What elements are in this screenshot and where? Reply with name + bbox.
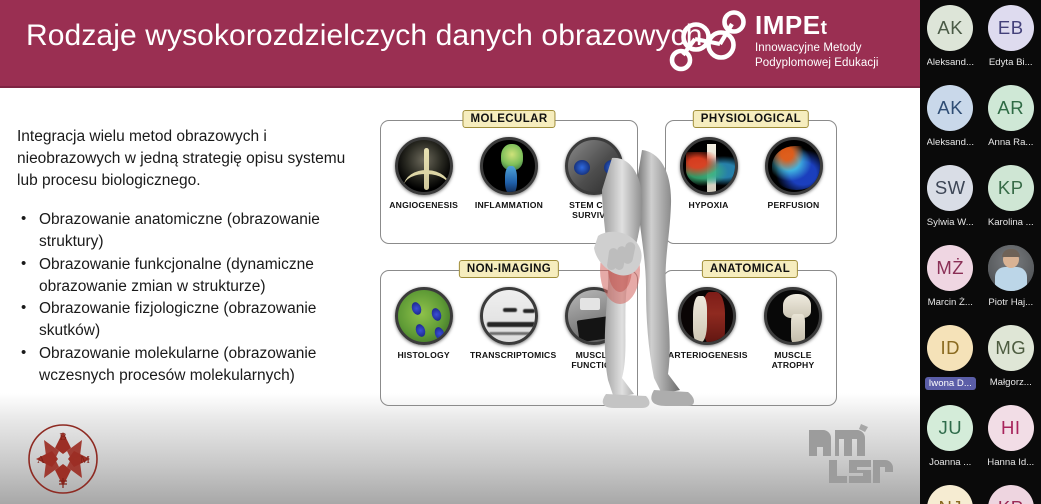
abm-maltese-cross-logo: B A M (15, 420, 111, 498)
participant-avatar[interactable]: ID (927, 325, 973, 371)
participant-name: Edyta Bi... (989, 57, 1033, 68)
participant-tile[interactable]: KPKatarzyn... (981, 480, 1041, 504)
participant-avatar[interactable]: JU (927, 405, 973, 451)
participant-name: Anna Ra... (988, 137, 1033, 148)
participant-row: SWSylwia W...KPKarolina ... (920, 160, 1041, 240)
panel-title-non-imaging: NON-IMAGING (459, 260, 559, 278)
modality-label: MUSCLE ATROPHY (754, 350, 832, 370)
impet-name-main: IMPE (755, 10, 821, 40)
amsns-logo (803, 420, 895, 492)
panel-title-anatomical: ANATOMICAL (702, 260, 798, 278)
impet-wordmark: IMPEt Innowacyjne Metody Podyplomowej Ed… (755, 12, 879, 71)
muscle-atrophy-thumbnail (764, 287, 822, 345)
modality-item: MUSCLE ATROPHY (754, 287, 832, 370)
imaging-modalities-figure: MOLECULAR ANGIOGENESIS INFLAMMATION STEM… (380, 112, 830, 412)
legs-with-hand-graphic (576, 150, 708, 412)
slide-header-band: Rodzaje wysokorozdzielczych danych obraz… (0, 0, 920, 88)
modality-item: PERFUSION (755, 137, 833, 210)
modality-label: PERFUSION (755, 200, 833, 210)
svg-text:B: B (59, 431, 66, 443)
participant-tile[interactable]: AKAleksand... (920, 0, 981, 80)
participant-tile[interactable]: ARAnna Ra... (981, 80, 1041, 160)
slide-body-text: Integracja wielu metod obrazowych i nieo… (17, 126, 357, 388)
inflammation-thumbnail (480, 137, 538, 195)
participant-tile[interactable]: HIHanna Id... (981, 400, 1041, 480)
participant-tile[interactable]: NJNatalia J... (920, 480, 981, 504)
participant-tile[interactable]: SWSylwia W... (920, 160, 981, 240)
participant-name: Marcin Ż... (928, 297, 973, 308)
participant-name: Karolina ... (988, 217, 1034, 228)
participant-name: Aleksand... (927, 137, 974, 148)
participant-row: IDIwona D...MGMałgorz... (920, 320, 1041, 400)
participant-tile[interactable]: JUJoanna ... (920, 400, 981, 480)
participant-tile[interactable]: MŻMarcin Ż... (920, 240, 981, 320)
meeting-screen: Rodzaje wysokorozdzielczych danych obraz… (0, 0, 1041, 504)
list-item: Obrazowanie molekularne (obrazowanie wcz… (17, 343, 357, 387)
participant-avatar[interactable]: KP (988, 165, 1034, 211)
participant-name: Iwona D... (925, 377, 976, 390)
participant-avatar[interactable]: MŻ (927, 245, 973, 291)
angiogenesis-thumbnail (395, 137, 453, 195)
participant-avatar[interactable]: MG (988, 325, 1034, 371)
participant-avatar[interactable]: AR (988, 85, 1034, 131)
participant-avatar[interactable]: SW (927, 165, 973, 211)
participant-row: AKAleksand...EBEdyta Bi... (920, 0, 1041, 80)
participant-row: NJNatalia J...KPKatarzyn... (920, 480, 1041, 504)
participant-avatar[interactable]: KP (988, 485, 1034, 504)
participant-avatar[interactable]: EB (988, 5, 1034, 51)
perfusion-thumbnail (765, 137, 823, 195)
participant-name: Piotr Haj... (988, 297, 1033, 308)
participant-name: Małgorz... (990, 377, 1032, 388)
participant-tile[interactable]: IDIwona D... (920, 320, 981, 400)
modality-label: HISTOLOGY (385, 350, 463, 360)
slide-title: Rodzaje wysokorozdzielczych danych obraz… (26, 19, 702, 53)
participant-name: Hanna Id... (987, 457, 1034, 468)
participant-avatar[interactable]: HI (988, 405, 1034, 451)
participant-name: Joanna ... (929, 457, 971, 468)
modality-item: TRANSCRIPTOMICS (470, 287, 548, 360)
participant-tile[interactable]: MGMałgorz... (981, 320, 1041, 400)
impet-logo: IMPEt Innowacyjne Metody Podyplomowej Ed… (663, 8, 903, 78)
participant-tile[interactable]: EBEdyta Bi... (981, 0, 1041, 80)
participant-avatar[interactable]: AK (927, 5, 973, 51)
participant-row: AKAleksand...ARAnna Ra... (920, 80, 1041, 160)
participant-avatar[interactable]: AK (927, 85, 973, 131)
participant-row: JUJoanna ...HIHanna Id... (920, 400, 1041, 480)
modality-item: INFLAMMATION (470, 137, 548, 210)
participant-tile[interactable]: AKAleksand... (920, 80, 981, 160)
bullet-list: Obrazowanie anatomiczne (obrazowanie str… (17, 209, 357, 387)
modality-label: INFLAMMATION (470, 200, 548, 210)
svg-text:M: M (80, 454, 90, 466)
list-item: Obrazowanie funkcjonalne (dynamiczne obr… (17, 254, 357, 298)
participant-rail[interactable]: AKAleksand...EBEdyta Bi...AKAleksand...A… (920, 0, 1041, 504)
participant-row: MŻMarcin Ż...Piotr Haj... (920, 240, 1041, 320)
presentation-slide: Rodzaje wysokorozdzielczych danych obraz… (0, 0, 920, 504)
molecule-icon (663, 10, 749, 74)
impet-name: IMPEt (755, 12, 879, 38)
modality-item: HISTOLOGY (385, 287, 463, 360)
modality-item: ANGIOGENESIS (385, 137, 463, 210)
participant-tile[interactable]: Piotr Haj... (981, 240, 1041, 320)
intro-paragraph: Integracja wielu metod obrazowych i nieo… (17, 126, 357, 192)
list-item: Obrazowanie fizjologiczne (obrazowanie s… (17, 298, 357, 342)
participant-name: Aleksand... (927, 57, 974, 68)
panel-title-molecular: MOLECULAR (462, 110, 555, 128)
impet-tagline-line2: Podyplomowej Edukacji (755, 56, 879, 71)
panel-title-physiological: PHYSIOLOGICAL (693, 110, 809, 128)
participant-name: Sylwia W... (927, 217, 974, 228)
modality-label: ANGIOGENESIS (385, 200, 463, 210)
transcriptomics-thumbnail (480, 287, 538, 345)
participant-tile[interactable]: KPKarolina ... (981, 160, 1041, 240)
participant-photo-avatar[interactable] (988, 245, 1034, 291)
participant-avatar[interactable]: NJ (927, 485, 973, 504)
list-item: Obrazowanie anatomiczne (obrazowanie str… (17, 209, 357, 253)
impet-tagline-line1: Innowacyjne Metody (755, 41, 879, 56)
impet-name-suffix: t (821, 18, 828, 39)
modality-label: TRANSCRIPTOMICS (470, 350, 548, 360)
svg-text:A: A (37, 454, 45, 466)
histology-thumbnail (395, 287, 453, 345)
